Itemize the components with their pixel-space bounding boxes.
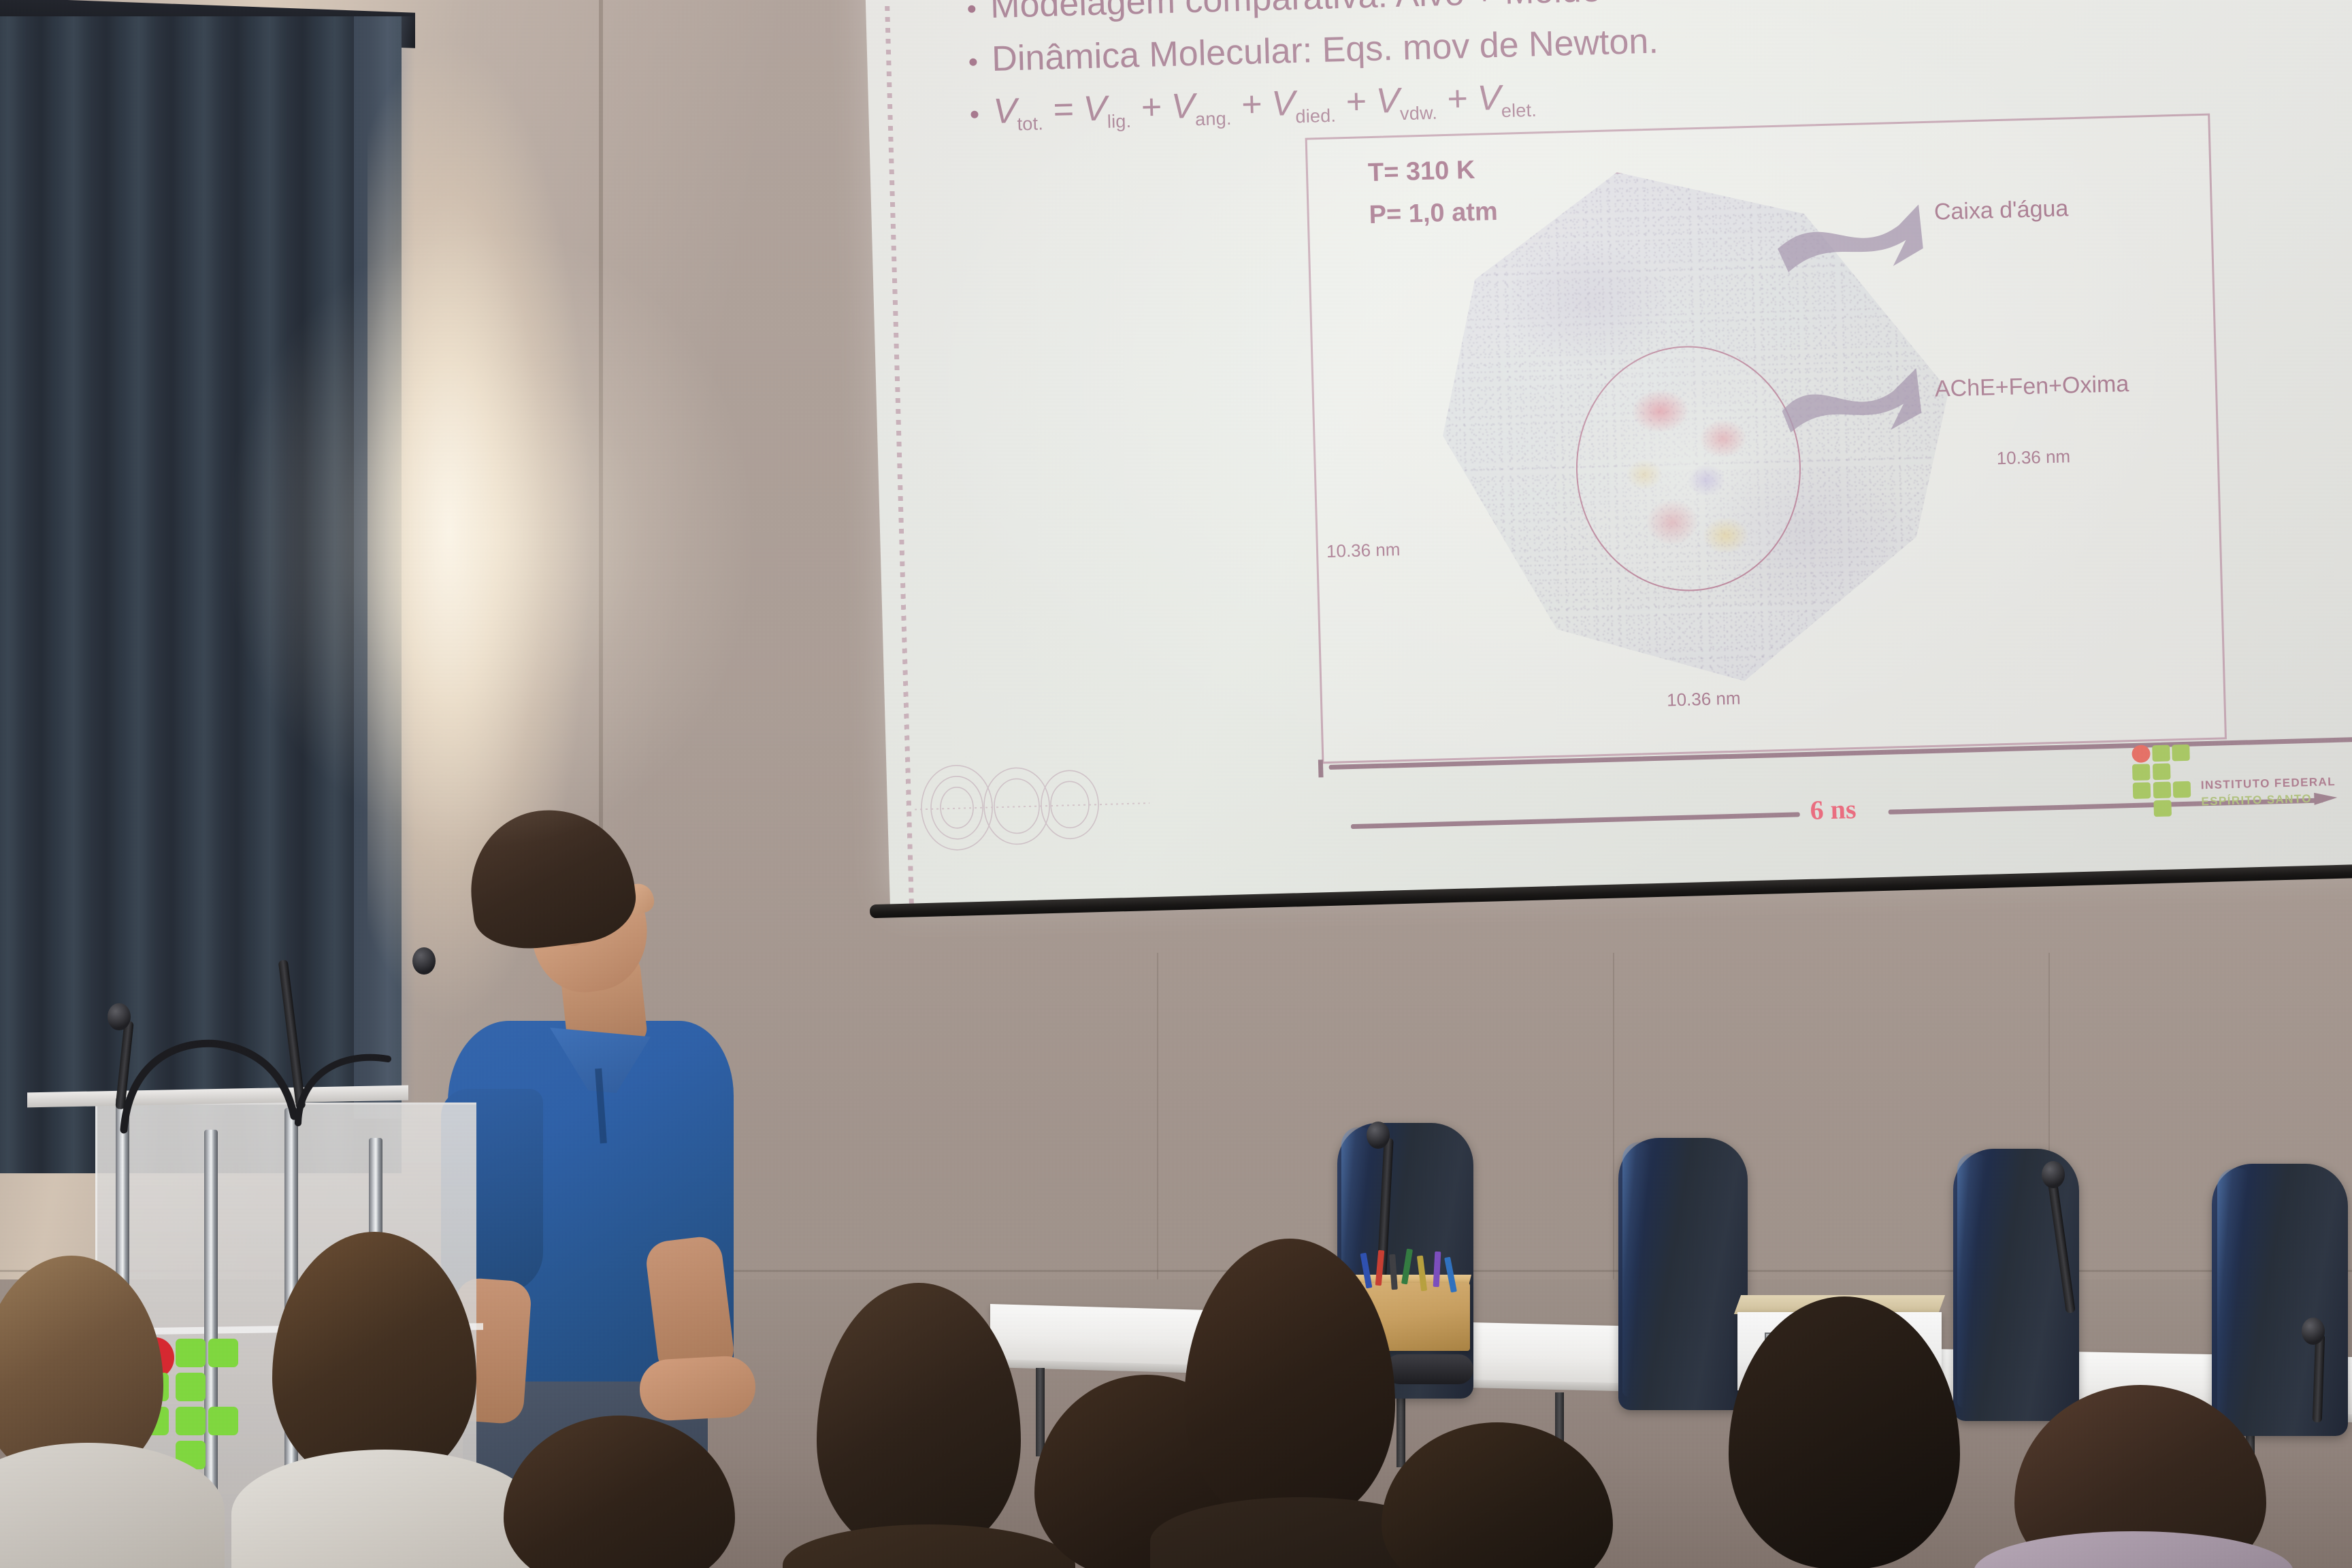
logo-block: [176, 1407, 206, 1435]
table-leg: [1036, 1368, 1045, 1456]
logo-block: [2173, 781, 2191, 798]
wall-seam: [1613, 953, 1614, 1307]
figure-pressure: P= 1,0 atm: [1369, 197, 1498, 230]
pen-cluster: [1358, 1249, 1467, 1288]
formula-term-var: V: [1083, 88, 1107, 129]
podium-mic-gooseneck-icon: [116, 1034, 456, 1137]
table-microphone-head[interactable]: [2042, 1161, 2065, 1188]
stage-curtain: [0, 16, 402, 1173]
formula-term-sub: ang.: [1195, 108, 1232, 129]
formula-term-sub: died.: [1295, 105, 1336, 127]
logo-block: [208, 1339, 238, 1367]
simulation-figure: T= 310 K P= 1,0 atm Caixa d'água AChE+Fe…: [1305, 114, 2227, 764]
formula-equals: =: [1052, 90, 1074, 130]
figure-callout-system: AChE+Fen+Oxima: [1934, 371, 2129, 403]
logo-mark-icon: [2131, 744, 2192, 819]
chair-armrest: [1385, 1354, 1473, 1384]
wall-seam: [1157, 953, 1158, 1293]
pen: [1401, 1249, 1413, 1285]
slide-wave-decoration-icon: [913, 745, 1154, 866]
timeline-left-cap-icon: [1319, 756, 1347, 780]
presenter-hands: [638, 1355, 757, 1422]
figure-temperature: T= 310 K: [1367, 156, 1475, 188]
chair-highlight: [1957, 1153, 1990, 1407]
logo-block: [2133, 782, 2151, 799]
pen: [1417, 1256, 1427, 1292]
podium-microphone-head[interactable]: [108, 1003, 131, 1030]
chair: [1618, 1138, 1748, 1410]
bullet-text: Dinâmica Molecular: Eqs. mov de Newton.: [991, 19, 1659, 82]
bullet-dot-icon: [968, 5, 975, 13]
logo-block: [2152, 745, 2170, 762]
formula-lhs-sub: tot.: [1017, 113, 1043, 134]
slide-dotted-rail: [883, 0, 914, 904]
timeline-duration-label: 6 ns: [1810, 793, 1857, 826]
pen: [1375, 1250, 1384, 1286]
logo-block: [176, 1339, 206, 1367]
formula-term-sub: vdw.: [1400, 103, 1438, 124]
chair: [1953, 1149, 2079, 1421]
chair: [2212, 1164, 2348, 1436]
figure-dim-bottom: 10.36 nm: [1667, 688, 1741, 711]
formula-plus: +: [1140, 87, 1162, 127]
projected-slide: Metodologia Modelagem comparativa: Alvo …: [864, 0, 2352, 904]
logo-line-2: ESPÍRITO SANTO: [2201, 792, 2312, 808]
curtain-edge-highlight: [354, 16, 415, 1119]
formula-term-sub: lig.: [1107, 111, 1131, 132]
logo-block: [2153, 764, 2171, 781]
bullet-dot-icon: [969, 58, 977, 65]
pen: [1389, 1254, 1398, 1290]
arrow-to-system-icon: [1781, 368, 1922, 433]
table-microphone-head[interactable]: [2302, 1318, 2325, 1345]
podium-microphone-head[interactable]: [412, 947, 436, 975]
formula-term-var: V: [1271, 84, 1296, 124]
table-microphone-head[interactable]: [1367, 1122, 1390, 1149]
logo-block: [176, 1373, 206, 1401]
pen: [1444, 1257, 1457, 1293]
logo-block: [2132, 764, 2151, 781]
formula-term-sub: elet.: [1501, 100, 1537, 121]
arrow-to-water-box-icon: [1777, 204, 1924, 272]
logo-block: [2153, 782, 2172, 799]
logo-block: [2153, 800, 2172, 817]
figure-dim-left: 10.36 nm: [1326, 539, 1401, 562]
energy-formula: Vtot. = Vlig. + Vang. + Vdied. + Vvdw. +…: [993, 75, 1537, 136]
chair-highlight: [1622, 1142, 1656, 1396]
presenter-hair: [462, 800, 641, 955]
logo-line-1: INSTITUTO FEDERAL: [2201, 775, 2336, 792]
formula-lhs-var: V: [993, 91, 1017, 131]
formula-plus: +: [1345, 82, 1367, 122]
bullet-dot-icon: [970, 111, 978, 118]
ifes-logo-slide: INSTITUTO FEDERAL ESPÍRITO SANTO: [2131, 739, 2352, 827]
chair-highlight: [2217, 1168, 2255, 1421]
formula-plus: +: [1241, 84, 1262, 125]
logo-block: [208, 1407, 238, 1435]
figure-dim-right: 10.36 nm: [1996, 446, 2070, 469]
logo-dot-icon: [2131, 745, 2151, 763]
pen: [1433, 1252, 1441, 1287]
formula-term-var: V: [1171, 86, 1195, 127]
timeline-arrow-left: [1351, 812, 1800, 829]
formula-term-var: V: [1375, 81, 1400, 121]
presentation-photo-scene: Metodologia Modelagem comparativa: Alvo …: [0, 0, 2352, 1568]
formula-term-var: V: [1477, 78, 1501, 118]
figure-callout-water: Caixa d'água: [1933, 195, 2068, 225]
formula-plus: +: [1446, 79, 1468, 119]
logo-block: [2172, 745, 2190, 762]
projection-screen: Metodologia Modelagem comparativa: Alvo …: [864, 0, 2352, 945]
